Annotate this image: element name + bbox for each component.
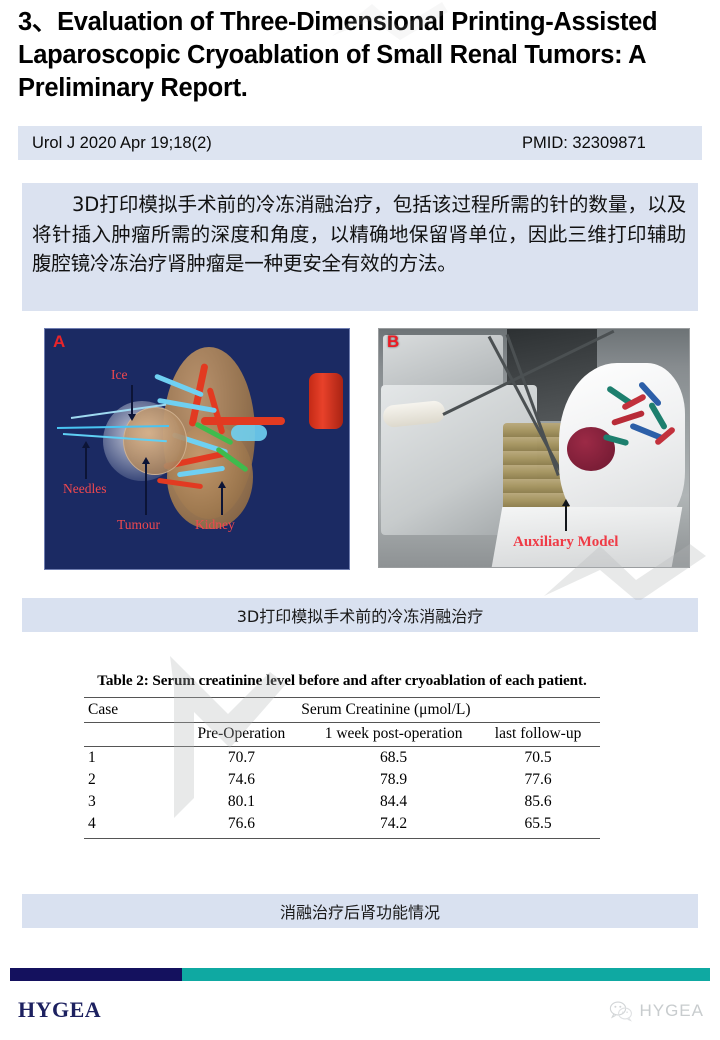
header-last-follow-up: last follow-up [476,723,600,747]
table-header-row-1: Case Serum Creatinine (μmol/L) [84,698,600,723]
footer-brand: HYGEA [18,997,101,1023]
table-body: 1 70.7 68.5 70.5 2 74.6 78.9 77.6 3 80.1… [84,747,600,839]
cell-case: 1 [84,747,172,770]
table-header-row-2: Pre-Operation 1 week post-operation last… [84,723,600,747]
table-row: 3 80.1 84.4 85.6 [84,791,600,813]
table-caption: Table 2: Serum creatinine level before a… [84,672,600,690]
figure-caption-bar: 3D打印模拟手术前的冷冻消融治疗 [22,598,698,632]
footer-accent-teal [182,968,710,981]
cell-pre-operation: 76.6 [172,813,311,839]
cell-last-follow-up: 70.5 [476,747,600,770]
header-one-week-post: 1 week post-operation [311,723,476,747]
auxiliary-model-arrow [565,505,567,531]
panel-b-letter: B [387,332,399,352]
cell-pre-operation: 70.7 [172,747,311,770]
cell-case: 3 [84,791,172,813]
vein-trunk [231,425,267,441]
cell-one-week-post: 78.9 [311,769,476,791]
tumour-arrow [145,463,147,515]
label-kidney: Kidney [195,517,235,533]
abstract-box: 3D打印模拟手术前的冷冻消融治疗，包括该过程所需的针的数量，以及将针插入肿瘤所需… [22,183,698,311]
panel-a-letter: A [53,332,65,352]
label-needles: Needles [63,481,106,497]
header-case: Case [84,698,172,723]
aorta [309,373,343,429]
header-pre-operation: Pre-Operation [172,723,311,747]
cell-last-follow-up: 85.6 [476,791,600,813]
photo-model-vessels [599,389,683,459]
kidney-arrow [221,487,223,515]
cell-last-follow-up: 65.5 [476,813,600,839]
cell-pre-operation: 80.1 [172,791,311,813]
ice-arrow [131,385,133,415]
header-serum-creatinine: Serum Creatinine (μmol/L) [172,698,600,723]
cell-case: 2 [84,769,172,791]
page-title: 3、Evaluation of Three-Dimensional Printi… [18,6,702,105]
label-tumour: Tumour [117,517,160,533]
cell-one-week-post: 84.4 [311,791,476,813]
citation-pmid: PMID: 32309871 [522,134,646,153]
label-ice: Ice [111,367,127,383]
citation-journal: Urol J 2020 Apr 19;18(2) [32,134,212,153]
artery-main [201,417,285,425]
serum-creatinine-table: Case Serum Creatinine (μmol/L) Pre-Opera… [84,697,600,839]
figure-row: A Ice Needles Tumour Kidney B Auxil [0,328,720,576]
cell-one-week-post: 68.5 [311,747,476,770]
table-row: 2 74.6 78.9 77.6 [84,769,600,791]
header-blank [84,723,172,747]
citation-bar: Urol J 2020 Apr 19;18(2) PMID: 32309871 [18,126,702,160]
cell-pre-operation: 74.6 [172,769,311,791]
abstract-text: 3D打印模拟手术前的冷冻消融治疗，包括该过程所需的针的数量，以及将针插入肿瘤所需… [32,190,686,279]
figure-panel-b: B Auxiliary Model [378,328,690,568]
footer-wechat-label: HYGEA [639,1001,704,1021]
cell-one-week-post: 74.2 [311,813,476,839]
serum-creatinine-table-block: Table 2: Serum creatinine level before a… [84,672,600,839]
table-row: 4 76.6 74.2 65.5 [84,813,600,839]
needles-arrow [85,447,87,479]
cell-case: 4 [84,813,172,839]
wechat-icon [609,1000,633,1022]
figure-panel-a: A Ice Needles Tumour Kidney [44,328,350,570]
footer-accent-navy [10,968,182,981]
label-auxiliary-model: Auxiliary Model [513,534,618,551]
table-row: 1 70.7 68.5 70.5 [84,747,600,770]
footer-wechat-block: HYGEA [609,1000,704,1022]
cell-last-follow-up: 77.6 [476,769,600,791]
table-caption-bar: 消融治疗后肾功能情况 [22,894,698,928]
